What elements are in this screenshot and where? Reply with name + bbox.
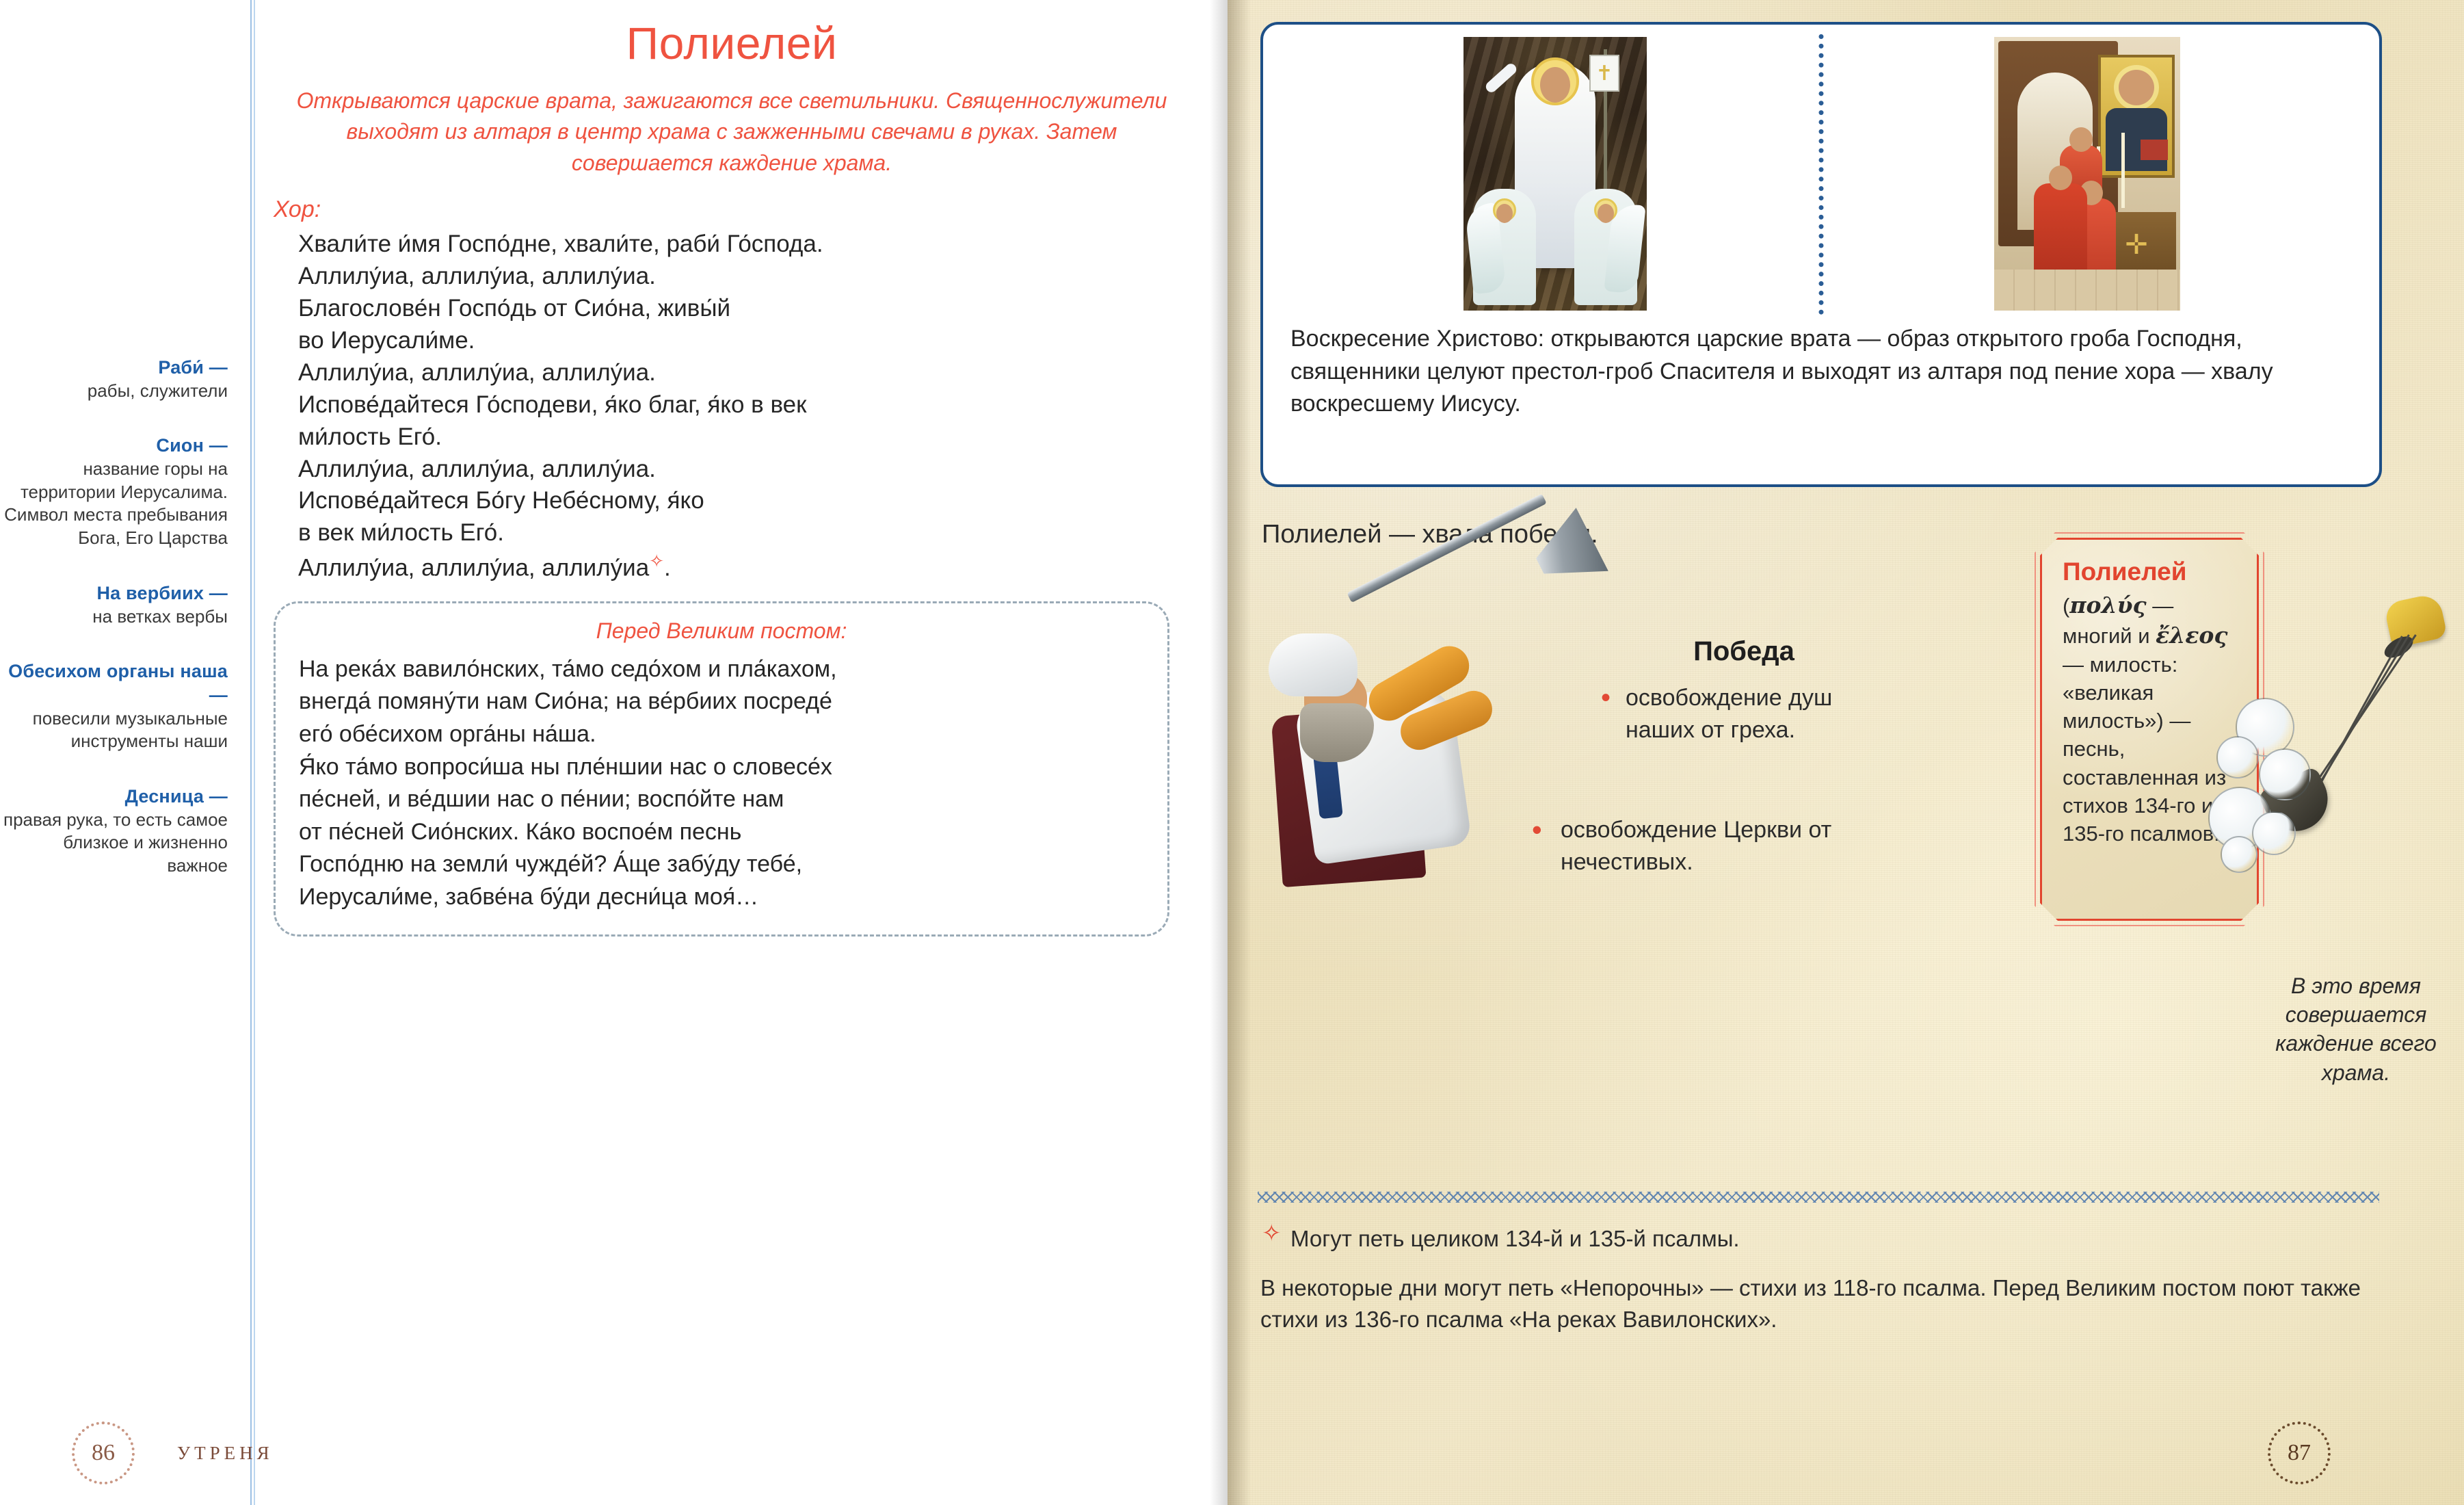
chant-line: ми́лость Его́. [298, 421, 1190, 454]
footnotes-block: ✧ Могут петь целиком 134-й и 135-й псалм… [1260, 1223, 2389, 1336]
dotted-separator [1819, 34, 1824, 315]
margin-note-definition: название горы на территории Иерусалима. … [0, 458, 228, 550]
vertical-rule-divider [250, 0, 256, 1505]
chant-line: в век ми́лость Его́. [298, 517, 1190, 549]
chant-line-final-text: Аллилу́иа, аллилу́иа, аллилу́иа [298, 555, 649, 581]
margin-note-definition: на ветках вербы [0, 605, 228, 629]
trumpeter-turban [1269, 633, 1357, 696]
resurrection-icon [1463, 37, 1647, 311]
chant-line: Хвали́те и́мя Госпо́дне, хвали́те, раби́… [298, 228, 1190, 261]
victory-bullet-list: освобождение душ наших от греха. [1597, 682, 1891, 746]
smoke-puff [2252, 811, 2296, 855]
illustration-frame: Воскресение Христово: открываются царски… [1260, 22, 2382, 487]
illustration-left [1289, 37, 1821, 319]
lent-line: Госпо́дню на земли́ чужде́й? А́ще забу́д… [299, 848, 1144, 881]
victory-section: Полиелей — хвала победы. Победа освобожд… [1255, 520, 2041, 944]
starred-footnote-text: Могут петь целиком 134-й и 135-й псалмы. [1290, 1226, 1740, 1251]
lent-line: На река́х вавило́нских, та́мо седо́хом и… [299, 653, 1144, 686]
angel-right [1574, 189, 1637, 305]
greek-word-polys: πολύς [2069, 592, 2146, 618]
candle-icon [2121, 133, 2125, 208]
christ-pantocrator-icon [2098, 55, 2175, 178]
angel-face [1598, 204, 1614, 223]
illustration-right [1821, 37, 2353, 319]
priest-head [2049, 166, 2072, 190]
victory-block: Победа освобождение душ наших от греха. [1597, 636, 1891, 761]
lent-line: его́ обе́сихом орга́ны на́ша. [299, 718, 1144, 751]
angel-left [1473, 189, 1536, 305]
margin-note: Обесихом органы наша — повесили музыкаль… [0, 659, 228, 753]
running-head: УТРЕНЯ [177, 1443, 274, 1464]
chant-line-final: Аллилу́иа, аллилу́иа, аллилу́иа✧. [298, 549, 1190, 585]
margin-notes-column: Раби́ — рабы, служители Сион — название … [0, 356, 243, 909]
rubric-instruction: Открываются царские врата, зажигаются вс… [274, 86, 1190, 179]
incense-smoke [2229, 691, 2372, 869]
hex-note-title: Полиелей [2063, 558, 2239, 586]
page-title: Полиелей [274, 17, 1190, 69]
lent-line: от пе́сней Сио́нских. Ка́ко воспое́м пес… [299, 816, 1144, 849]
margin-note: Сион — название горы на территории Иерус… [0, 434, 228, 550]
margin-note-term: Обесихом органы наша — [0, 659, 228, 707]
chant-line: Испове́дайтеся Го́сподеви, я́ко благ, я́… [298, 389, 1190, 421]
book-spread: Раби́ — рабы, служители Сион — название … [0, 0, 2464, 1505]
pantocrator-head [2119, 70, 2154, 105]
left-page-body: Полиелей Открываются царские врата, зажи… [274, 0, 1190, 937]
illustration-caption: Воскресение Христово: открываются царски… [1263, 319, 2379, 421]
margin-note-definition: рабы, служители [0, 380, 228, 403]
right-page-footer: 87 [2268, 1422, 2331, 1484]
footnote-paragraph: В некоторые дни могут петь «Непорочны» —… [1260, 1272, 2389, 1335]
greek-word-eleos: ἔλεος [2156, 622, 2227, 649]
page-number-badge: 87 [2268, 1422, 2331, 1484]
lent-line: Иерусали́ме, забве́на бу́ди десни́ца моя… [299, 881, 1144, 914]
victory-title: Победа [1597, 636, 1891, 667]
chant-line: Аллилу́иа, аллилу́иа, аллилу́иа. [298, 454, 1190, 486]
margin-note-definition: правая рука, то есть самое близкое и жиз… [0, 809, 228, 878]
starred-footnote: ✧ Могут петь целиком 134-й и 135-й псалм… [1260, 1223, 2389, 1255]
margin-note-term: На вербиих — [0, 581, 228, 605]
chant-line: Благослове́н Госпо́дь от Сио́на, живы́й [298, 293, 1190, 325]
diamond-footnote-marker-icon: ✧ [1262, 1218, 1282, 1251]
footnote-divider [1258, 1192, 2379, 1203]
chant-line: Испове́дайтеся Бо́гу Небе́сному, я́ко [298, 485, 1190, 517]
chant-line: Аллилу́иа, аллилу́иа, аллилу́иа. [298, 357, 1190, 389]
victory-bullet: освобождение душ наших от греха. [1597, 682, 1891, 746]
lent-line: Я́ко та́мо вопроси́ша ны пле́ншии нас о … [299, 751, 1144, 784]
lent-insert-title: Перед Великим постом: [299, 618, 1144, 644]
christ-face [1540, 67, 1570, 103]
choir-label: Хор: [274, 196, 1190, 223]
victory-bullet-list-wide: освобождение Церкви от нечестивых. [1525, 814, 1963, 878]
page-number-badge: 86 [72, 1422, 135, 1484]
polieley-praise-line: Полиелей — хвала победы. [1262, 520, 2041, 549]
chant-line: во Иерусали́ме. [298, 325, 1190, 357]
left-page-footer: 86 УТРЕНЯ [72, 1422, 274, 1484]
censing-time-note: В это время совершается каждение всего х… [2253, 971, 2459, 1087]
margin-note-term: Сион — [0, 434, 228, 458]
smoke-puff [2216, 736, 2259, 778]
hex-mid-2: — милость: «великая милость») — песнь, с… [2063, 653, 2226, 846]
priests-procession-illustration [1994, 37, 2180, 311]
margin-note: На вербиих — на ветках вербы [0, 581, 228, 628]
censer-illustration [2253, 588, 2459, 917]
resurrection-banner-icon [1589, 55, 1619, 92]
chant-line: Аллилу́иа, аллилу́иа, аллилу́иа. [298, 261, 1190, 293]
margin-note: Десница — правая рука, то есть самое бли… [0, 785, 228, 878]
lent-line: пе́сней, и ве́дшии нас о пе́нии; воспо́й… [299, 783, 1144, 816]
margin-note: Раби́ — рабы, служители [0, 356, 228, 402]
lent-line: внегда́ помяну́ти нам Сио́на; на ве́рбии… [299, 685, 1144, 718]
church-floor [1994, 270, 2180, 311]
right-page: Воскресение Христово: открываются царски… [1228, 0, 2464, 1505]
gospel-book-icon [2141, 140, 2168, 160]
margin-note-term: Десница — [0, 785, 228, 809]
illustration-row [1263, 25, 2379, 319]
margin-note-term: Раби́ — [0, 356, 228, 380]
chant-line-final-suffix: . [664, 555, 671, 581]
lent-insert-box: Перед Великим постом: На река́х вавило́н… [274, 601, 1169, 937]
margin-note-definition: повесили музыкальные инструменты наши [0, 707, 228, 754]
chant-text: Хвали́те и́мя Госпо́дне, хвали́те, раби́… [274, 228, 1190, 584]
priest-head [2069, 127, 2093, 152]
smoke-puff [2221, 836, 2257, 873]
left-page: Раби́ — рабы, служители Сион — название … [0, 0, 1228, 1505]
hex-open-paren: ( [2063, 594, 2069, 618]
angel-face [1496, 204, 1513, 223]
smoke-puff [2259, 748, 2311, 800]
victory-bullet: освобождение Церкви от нечестивых. [1525, 814, 1963, 878]
diamond-footnote-marker-icon: ✧ [649, 551, 664, 571]
